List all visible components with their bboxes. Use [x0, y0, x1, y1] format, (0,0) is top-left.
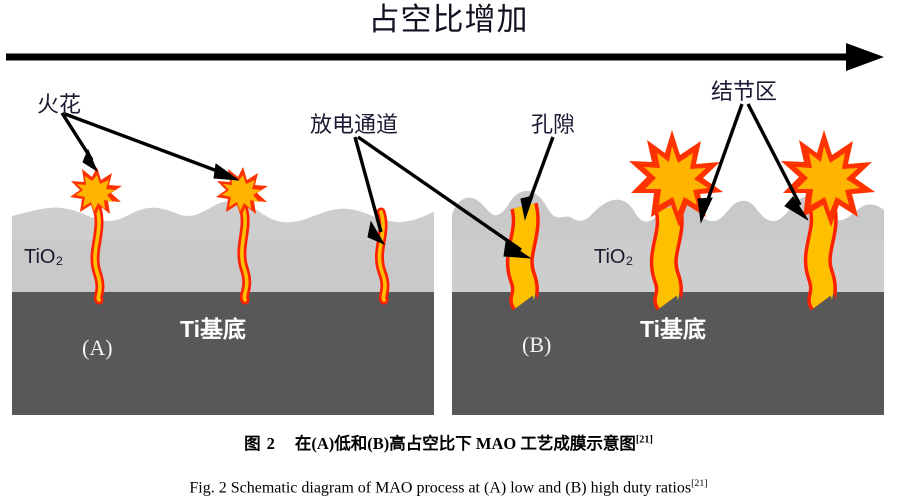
caption-chinese: 图2在(A)低和(B)高占空比下 MAO 工艺成膜示意图[21] — [0, 430, 897, 454]
caption-english: Fig. 2 Schematic diagram of MAO process … — [0, 478, 897, 497]
label-pore: 孔隙 — [531, 112, 575, 137]
panel-b — [452, 191, 884, 415]
panel-a-letter: (A) — [82, 335, 113, 360]
spark-a-1 — [70, 167, 122, 217]
caption-en-text: Fig. 2 Schematic diagram of MAO process … — [189, 479, 691, 496]
label-spark: 火花 — [37, 92, 81, 117]
substrate-a-label: Ti基底 — [180, 316, 246, 342]
substrate-b-label: Ti基底 — [640, 316, 706, 342]
substrate-b-block — [452, 292, 884, 415]
caption-cn-prefix: 图 — [244, 434, 261, 453]
label-nodule-zone: 结节区 — [711, 79, 777, 104]
label-discharge-channel: 放电通道 — [310, 112, 398, 137]
oxide-a-label: TiO₂ — [24, 246, 63, 268]
oxide-b-label: TiO₂ — [594, 246, 633, 268]
panel-b-letter: (B) — [522, 332, 551, 357]
caption-cn-text: 在(A)低和(B)高占空比下 MAO 工艺成膜示意图 — [295, 434, 636, 453]
caption-cn-ref: [21] — [636, 435, 653, 446]
spark-b-1 — [629, 130, 723, 227]
caption-en-ref: [21] — [691, 478, 708, 489]
caption-cn-number: 2 — [261, 434, 281, 453]
mao-process-schematic: TiO₂ Ti基底 (A) TiO₂ Ti基底 (B) — [0, 0, 897, 504]
duty-cycle-arrow — [6, 43, 884, 71]
figure-title: 占空比增加 — [0, 2, 897, 38]
substrate-a-block — [12, 292, 434, 415]
